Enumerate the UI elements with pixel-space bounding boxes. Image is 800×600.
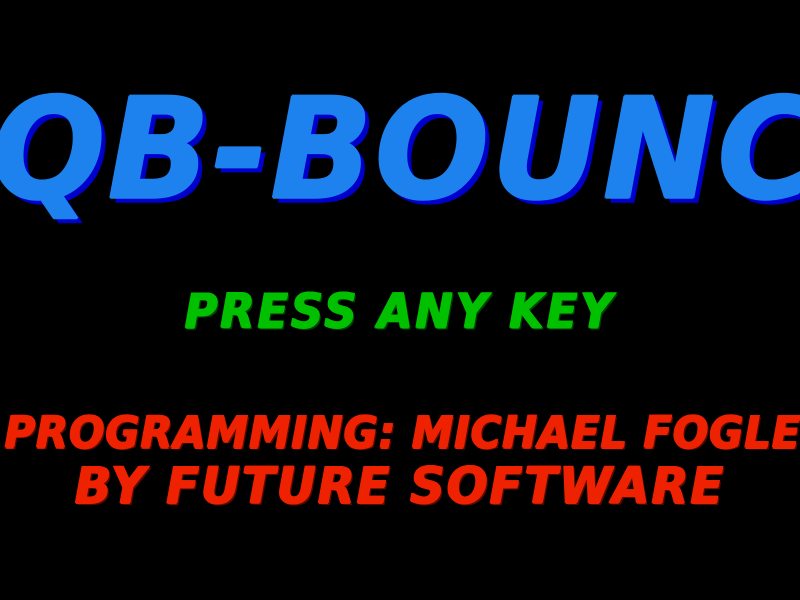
press-any-key-text: PRESS ANY KEY [185, 287, 616, 335]
game-title-screen[interactable]: QB-BOUNCE QB-BOUNCE PRESS ANY KEY PRESS … [0, 0, 800, 600]
credit-line-programming-stack: PROGRAMMING: MICHAEL FOGLEMAN PROGRAMMIN… [0, 412, 800, 454]
game-title: QB-BOUNCE QB-BOUNCE [0, 84, 800, 234]
game-title-text: QB-BOUNCE [0, 80, 800, 220]
press-any-key-stack: PRESS ANY KEY PRESS ANY KEY [178, 288, 622, 334]
game-title-stack: QB-BOUNCE QB-BOUNCE [0, 84, 800, 216]
credit-line-publisher: BY FUTURE SOFTWARE BY FUTURE SOFTWARE [0, 462, 800, 520]
press-any-key-prompt[interactable]: PRESS ANY KEY PRESS ANY KEY [0, 288, 800, 342]
credit-line-publisher-stack: BY FUTURE SOFTWARE BY FUTURE SOFTWARE [75, 462, 725, 510]
credit-line-publisher-text: BY FUTURE SOFTWARE [75, 461, 725, 512]
credit-line-programming-text: PROGRAMMING: MICHAEL FOGLEMAN [5, 411, 800, 455]
